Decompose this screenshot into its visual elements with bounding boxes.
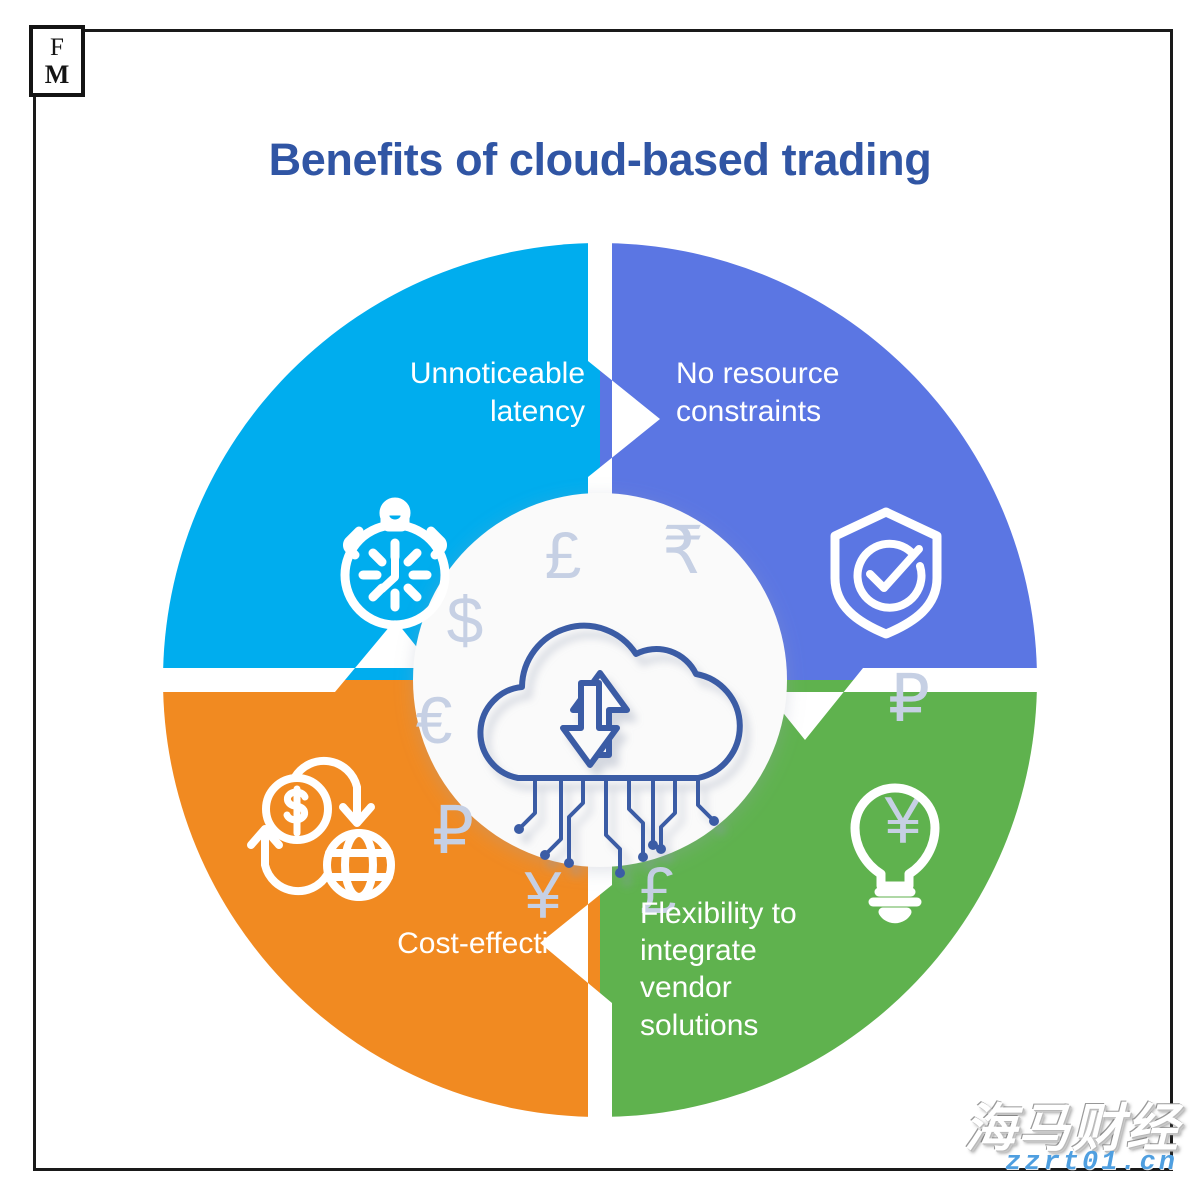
segment-label-no-resource-constraints: No resource constraints (676, 355, 966, 431)
segment-label-unnoticeable-latency: Unnoticeable latency (300, 355, 585, 431)
logo-letter-f: F (50, 35, 64, 60)
segment-label-cost-effective: Cost-effective (290, 925, 580, 963)
pound-symbol-top: £ (545, 518, 582, 592)
watermark-url: zzrt01.cn (1005, 1148, 1178, 1178)
infographic-canvas: F M Benefits of cloud-based trading (0, 0, 1200, 1200)
dollar-symbol: $ (447, 583, 484, 657)
ruble-symbol-right: ₽ (888, 661, 930, 735)
segment-label-flexibility-integrate-vendor-solutions: Flexibility to integrate vendor solution… (640, 895, 900, 1044)
ruble-symbol-left: ₽ (432, 793, 474, 867)
rupee-symbol: ₹ (662, 513, 704, 587)
euro-symbol: € (416, 683, 453, 757)
page-title: Benefits of cloud-based trading (0, 134, 1200, 186)
yen-symbol-bottom: ¥ (524, 858, 562, 932)
logo-letter-m: M (45, 62, 70, 88)
fm-logo: F M (29, 25, 85, 97)
